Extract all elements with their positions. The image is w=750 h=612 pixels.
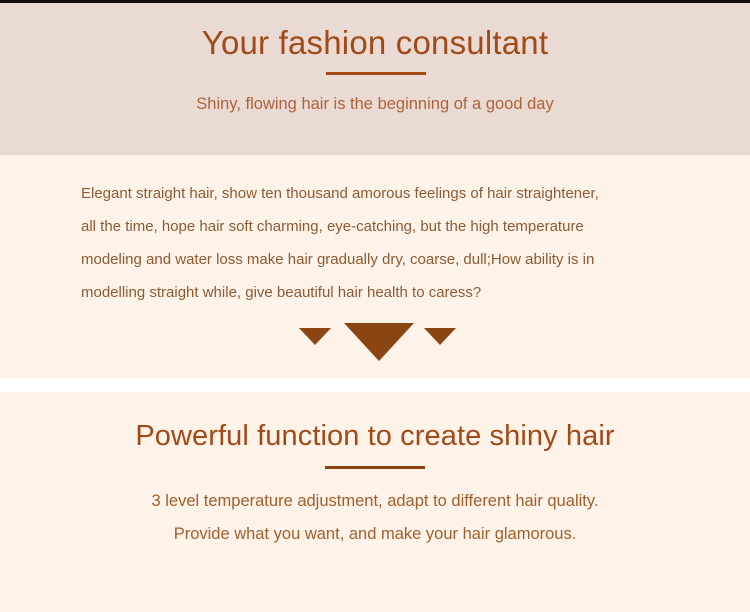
feature-title-underline: [325, 466, 425, 469]
feature-section: Powerful function to create shiny hair 3…: [0, 392, 750, 612]
intro-line: all the time, hope hair soft charming, e…: [81, 210, 681, 243]
section-gap-separator: [0, 378, 750, 392]
triangle-down-icon-small-left: [299, 328, 331, 345]
intro-line: modeling and water loss make hair gradua…: [81, 243, 681, 276]
hero-banner: Your fashion consultant Shiny, flowing h…: [0, 3, 750, 155]
feature-line: Provide what you want, and make your hai…: [0, 518, 750, 551]
hero-subtitle: Shiny, flowing hair is the beginning of …: [0, 92, 750, 116]
intro-paragraph: Elegant straight hair, show ten thousand…: [81, 177, 681, 309]
hero-title: Your fashion consultant: [0, 23, 750, 63]
arrow-divider-cluster: [0, 323, 750, 371]
intro-line: modelling straight while, give beautiful…: [81, 276, 681, 309]
feature-paragraph: 3 level temperature adjustment, adapt to…: [0, 485, 750, 551]
intro-line: Elegant straight hair, show ten thousand…: [81, 177, 681, 210]
feature-line: 3 level temperature adjustment, adapt to…: [0, 485, 750, 518]
triangle-down-icon-large-center: [344, 323, 414, 361]
feature-title: Powerful function to create shiny hair: [0, 417, 750, 455]
triangle-down-icon-small-right: [424, 328, 456, 345]
intro-section: Elegant straight hair, show ten thousand…: [0, 155, 750, 378]
product-description-page: Your fashion consultant Shiny, flowing h…: [0, 0, 750, 612]
hero-title-underline: [326, 72, 426, 75]
